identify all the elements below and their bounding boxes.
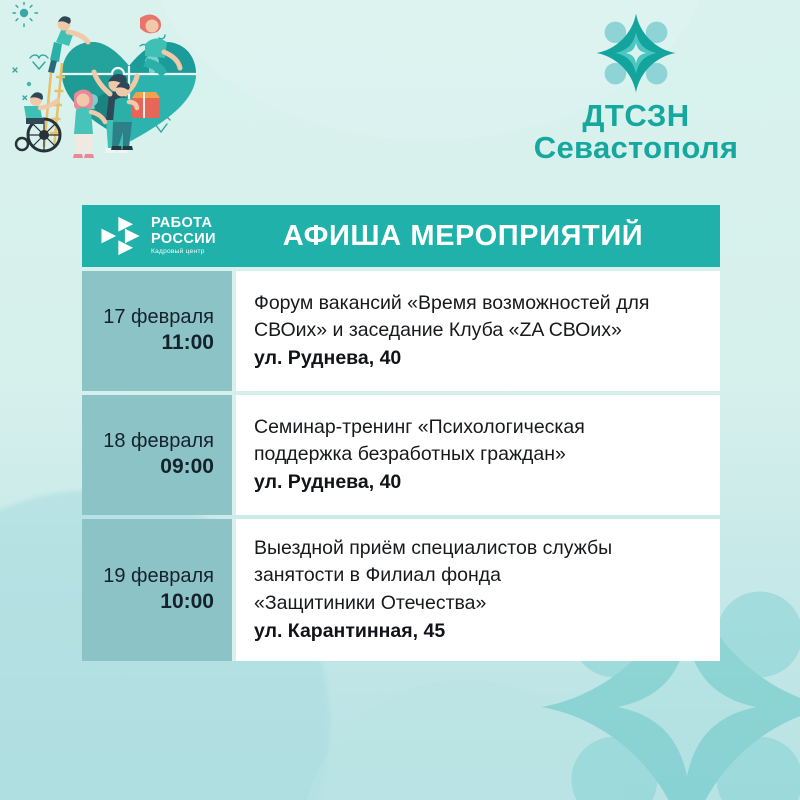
event-time: 11:00 [161,330,214,356]
event-info-cell: Выездной приём специалистов службы занят… [232,519,720,661]
event-date: 19 февраля [103,564,214,589]
event-title-line: Семинар-тренинг «Психологическая [254,414,702,441]
table-row: 17 февраля 11:00 Форум вакансий «Время в… [82,271,720,391]
event-address: ул. Карантинная, 45 [254,618,702,645]
table-row: 18 февраля 09:00 Семинар-тренинг «Психол… [82,395,720,515]
events-table-title: АФИША МЕРОПРИЯТИЙ [232,220,720,253]
rabota-rossii-logo: РАБОТА РОССИИ Кадровый центр [82,216,232,256]
event-date-cell: 19 февраля 10:00 [82,519,232,661]
event-title-line: «Защитиники Отечества» [254,590,702,617]
event-date: 18 февраля [103,429,214,454]
dtszn-star-logo-icon [593,10,679,96]
rabota-rossii-subtitle: Кадровый центр [151,249,216,256]
event-date: 17 февраля [103,305,214,330]
event-info-cell: Форум вакансий «Время возможностей для С… [232,271,720,391]
event-title-line: СВОих» и заседание Клуба «ZA СВОих» [254,317,702,344]
event-title-line: Форум вакансий «Время возможностей для [254,290,702,317]
event-title-line: Выездной приём специалистов службы [254,535,702,562]
dtszn-brand: ДТСЗН Севастополя [486,6,786,165]
event-date-cell: 18 февраля 09:00 [82,395,232,515]
event-time: 10:00 [160,589,214,615]
rabota-rossii-line-1: РАБОТА [151,216,216,231]
event-title-line: поддержка безработных граждан» [254,441,702,468]
event-title-line: занятости в Филиал фонда [254,562,702,589]
rabota-rossii-mark-icon [100,216,144,256]
events-table: РАБОТА РОССИИ Кадровый центр АФИША МЕРОП… [82,205,720,661]
events-table-header: РАБОТА РОССИИ Кадровый центр АФИША МЕРОП… [82,205,720,267]
rabota-rossii-line-2: РОССИИ [151,232,216,247]
brand-line-1: ДТСЗН [486,100,786,132]
event-address: ул. Руднева, 40 [254,469,702,496]
event-info-cell: Семинар-тренинг «Психологическая поддерж… [232,395,720,515]
event-address: ул. Руднева, 40 [254,345,702,372]
event-time: 09:00 [160,454,214,480]
event-date-cell: 17 февраля 11:00 [82,271,232,391]
table-row: 19 февраля 10:00 Выездной приём специали… [82,519,720,661]
event-poster: ДТСЗН Севастополя РАБОТА РОССИИ Кадровый… [0,0,800,800]
brand-line-2: Севастополя [486,132,786,165]
people-building-heart-puzzle-illustration [4,2,254,167]
